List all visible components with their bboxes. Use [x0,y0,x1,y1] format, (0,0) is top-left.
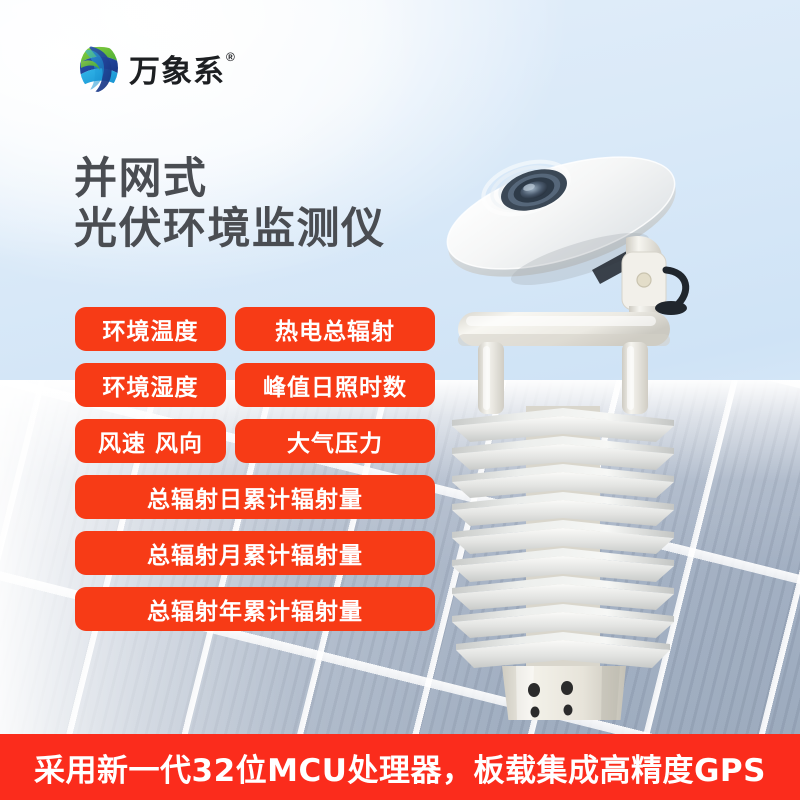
headline-line-1: 并网式 [74,155,386,205]
vent-hole [531,707,540,718]
banner-text: 采用新一代32位MCU处理器，板载集成高精度GPS [34,745,766,790]
feature-tag-row: 环境温度 热电总辐射 [75,307,435,351]
feature-tag-row: 风速 风向 大气压力 [75,419,435,463]
brand-name: 万象系 [129,49,225,88]
feature-tag-grid: 环境温度 热电总辐射 环境湿度 峰值日照时数 风速 风向 大气压力 总辐射日累计… [75,307,435,643]
vent-hole [561,681,573,695]
mounting-base [502,666,626,720]
feature-tag-total-thermoelectric-radiation: 热电总辐射 [235,307,435,351]
shield-support-posts [478,342,648,414]
feature-tag-peak-sunshine-hours: 峰值日照时数 [235,363,435,407]
product-poster: 万象系 ® 并网式 光伏环境监测仪 环境温度 热电总辐射 环境湿度 峰值日照时数… [0,0,800,800]
shield-top-cap [458,312,670,346]
feature-tag-ambient-temperature: 环境温度 [75,307,226,351]
feature-tag-monthly-cumulative-radiation: 总辐射月累计辐射量 [75,531,435,575]
feature-tag-daily-cumulative-radiation: 总辐射日累计辐射量 [75,475,435,519]
feature-tag-row: 总辐射日累计辐射量 [75,475,435,519]
vent-hole [564,705,573,716]
feature-tag-row: 环境湿度 峰值日照时数 [75,363,435,407]
feature-tag-atmospheric-pressure: 大气压力 [235,419,435,463]
feature-tag-ambient-humidity: 环境湿度 [75,363,226,407]
vent-hole [528,683,540,697]
bottom-banner: 采用新一代32位MCU处理器，板载集成高精度GPS [0,734,800,800]
product-image-weather-station [430,120,770,720]
feature-tag-yearly-cumulative-radiation: 总辐射年累计辐射量 [75,587,435,631]
brand-logo: 万象系 ® [78,42,235,94]
registered-trademark-icon: ® [226,51,235,63]
swirl-sphere-logo-icon [78,42,120,94]
feature-tag-row: 总辐射年累计辐射量 [75,587,435,631]
feature-tag-row: 总辐射月累计辐射量 [75,531,435,575]
feature-tag-wind-speed-direction: 风速 风向 [75,419,226,463]
headline-line-2: 光伏环境监测仪 [74,205,386,255]
headline: 并网式 光伏环境监测仪 [74,155,386,255]
louvered-radiation-shield [452,406,674,672]
